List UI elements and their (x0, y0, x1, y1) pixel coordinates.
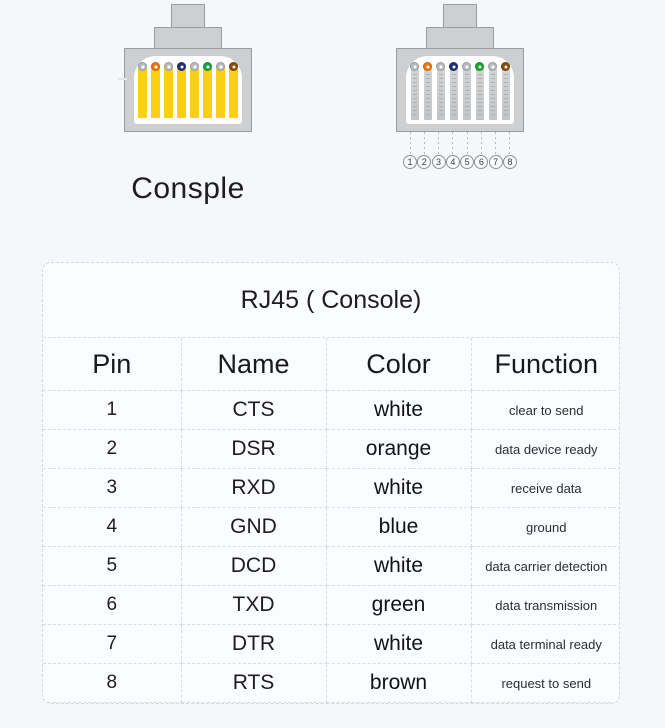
table-title: RJ45 ( Console) (43, 263, 619, 338)
cell-name-row-3: RXD (181, 469, 326, 508)
pin-contact-2 (151, 62, 160, 118)
rj45-plug-numbered-icon: 12345678 (390, 0, 530, 140)
pin-blade-4 (177, 68, 186, 118)
left-connector-caption: Consple (118, 172, 258, 206)
plug-neck (426, 27, 494, 49)
pin-blade-6 (476, 68, 484, 120)
cell-function-row-7: data terminal ready (471, 625, 620, 664)
pin-number-4: 4 (446, 155, 460, 169)
cell-pin-row-4: 4 (43, 508, 181, 547)
pin-number-7: 7 (489, 155, 503, 169)
pin-blade-4 (450, 68, 458, 120)
cell-color-row-3: white (326, 469, 471, 508)
leader-line-5 (467, 132, 468, 156)
pin-blade-3 (164, 68, 173, 118)
pin-number-8: 8 (503, 155, 517, 169)
right-pin-contacts (410, 62, 510, 124)
cell-pin-row-2: 2 (43, 430, 181, 469)
pin-contact-3 (436, 62, 445, 120)
rj45-plug-icon (118, 0, 258, 140)
connector-diagram-area: Consple 12345678 (0, 0, 665, 250)
pin-contact-7 (216, 62, 225, 118)
pin-color-dot-3 (436, 62, 445, 71)
pin-contact-6 (475, 62, 484, 120)
table-row: 1CTSwhiteclear to send (43, 391, 620, 430)
cell-name-row-8: RTS (181, 664, 326, 703)
cell-function-row-8: request to send (471, 664, 620, 703)
pin-color-dot-1 (138, 62, 147, 71)
leader-line-8 (509, 132, 510, 156)
right-connector-figure: 12345678 (390, 0, 530, 140)
pin-color-dot-6 (475, 62, 484, 71)
pin-color-dot-5 (190, 62, 199, 71)
pin-contact-2 (423, 62, 432, 120)
plug-neck (154, 27, 222, 49)
cell-function-row-1: clear to send (471, 391, 620, 430)
table-header: Pin Name Color Function (43, 338, 620, 391)
pin-contact-8 (229, 62, 238, 118)
pin-color-dot-7 (216, 62, 225, 71)
leader-line-1 (410, 132, 411, 156)
pin-blade-1 (138, 68, 147, 118)
pin-color-dot-8 (229, 62, 238, 71)
pin-color-dot-3 (164, 62, 173, 71)
pin-color-dot-1 (410, 62, 419, 71)
cell-name-row-2: DSR (181, 430, 326, 469)
pin-contact-5 (462, 62, 471, 120)
table-row: 3RXDwhitereceive data (43, 469, 620, 508)
pin-color-dot-4 (449, 62, 458, 71)
cell-name-row-1: CTS (181, 391, 326, 430)
pin-contact-8 (501, 62, 510, 120)
cell-color-row-5: white (326, 547, 471, 586)
cell-color-row-1: white (326, 391, 471, 430)
pin-number-3: 3 (432, 155, 446, 169)
cell-function-row-4: ground (471, 508, 620, 547)
pin-blade-7 (216, 68, 225, 118)
pin-contact-7 (488, 62, 497, 120)
pin-color-dot-6 (203, 62, 212, 71)
leader-line-3 (438, 132, 439, 156)
pin-blade-5 (463, 68, 471, 120)
cell-name-row-7: DTR (181, 625, 326, 664)
pin-color-dot-4 (177, 62, 186, 71)
pin-contact-1 (138, 62, 147, 118)
table-row: 4GNDblueground (43, 508, 620, 547)
cell-function-row-5: data carrier detection (471, 547, 620, 586)
cell-function-row-3: receive data (471, 469, 620, 508)
plug-latch-tab (443, 4, 477, 28)
cell-function-row-6: data transmission (471, 586, 620, 625)
table-row: 5DCDwhitedata carrier detection (43, 547, 620, 586)
pin-contact-4 (177, 62, 186, 118)
pinout-table: Pin Name Color Function 1CTSwhiteclear t… (43, 338, 620, 703)
pin-color-dot-7 (488, 62, 497, 71)
table-header-row: Pin Name Color Function (43, 338, 620, 391)
pin-contact-5 (190, 62, 199, 118)
pin-number-6: 6 (474, 155, 488, 169)
column-header-color: Color (326, 338, 471, 391)
cell-pin-row-1: 1 (43, 391, 181, 430)
pin-contact-4 (449, 62, 458, 120)
pin-blade-6 (203, 68, 212, 118)
table-row: 8RTSbrownrequest to send (43, 664, 620, 703)
pin-color-dot-2 (423, 62, 432, 71)
left-connector-figure: Consple (118, 0, 258, 140)
leader-line-7 (495, 132, 496, 156)
pin-color-dot-8 (501, 62, 510, 71)
cell-color-row-7: white (326, 625, 471, 664)
pin-contact-3 (164, 62, 173, 118)
cell-pin-row-6: 6 (43, 586, 181, 625)
cell-name-row-5: DCD (181, 547, 326, 586)
pin-number-1: 1 (403, 155, 417, 169)
plug-latch-tab (171, 4, 205, 28)
cell-name-row-4: GND (181, 508, 326, 547)
leader-line-4 (452, 132, 453, 156)
column-header-pin: Pin (43, 338, 181, 391)
pin-blade-8 (502, 68, 510, 120)
table-body: 1CTSwhiteclear to send2DSRorangedata dev… (43, 391, 620, 703)
pin-blade-1 (411, 68, 419, 120)
table-row: 2DSRorangedata device ready (43, 430, 620, 469)
pin-number-2: 2 (417, 155, 431, 169)
pin-blade-7 (489, 68, 497, 120)
cell-pin-row-3: 3 (43, 469, 181, 508)
cell-pin-row-5: 5 (43, 547, 181, 586)
leader-line-6 (481, 132, 482, 156)
column-header-name: Name (181, 338, 326, 391)
pin-color-dot-5 (462, 62, 471, 71)
pin-blade-8 (229, 68, 238, 118)
cell-name-row-6: TXD (181, 586, 326, 625)
cell-color-row-8: brown (326, 664, 471, 703)
pin-leader-lines (410, 132, 510, 156)
cell-pin-row-8: 8 (43, 664, 181, 703)
cell-color-row-6: green (326, 586, 471, 625)
leader-line-2 (424, 132, 425, 156)
pinout-table-panel: RJ45 ( Console) Pin Name Color Function … (42, 262, 620, 704)
pin-blade-3 (437, 68, 445, 120)
cell-function-row-2: data device ready (471, 430, 620, 469)
pin-blade-2 (424, 68, 432, 120)
plug-latch-nub (118, 78, 127, 80)
left-pin-contacts (138, 62, 238, 124)
cell-color-row-4: blue (326, 508, 471, 547)
pin-color-dot-2 (151, 62, 160, 71)
pin-contact-1 (410, 62, 419, 120)
column-header-function: Function (471, 338, 620, 391)
table-row: 7DTRwhitedata terminal ready (43, 625, 620, 664)
pin-contact-6 (203, 62, 212, 118)
pin-blade-5 (190, 68, 199, 118)
table-row: 6TXDgreendata transmission (43, 586, 620, 625)
pin-blade-2 (151, 68, 160, 118)
cell-pin-row-7: 7 (43, 625, 181, 664)
pin-number-5: 5 (460, 155, 474, 169)
pin-number-row: 12345678 (403, 155, 517, 169)
cell-color-row-2: orange (326, 430, 471, 469)
